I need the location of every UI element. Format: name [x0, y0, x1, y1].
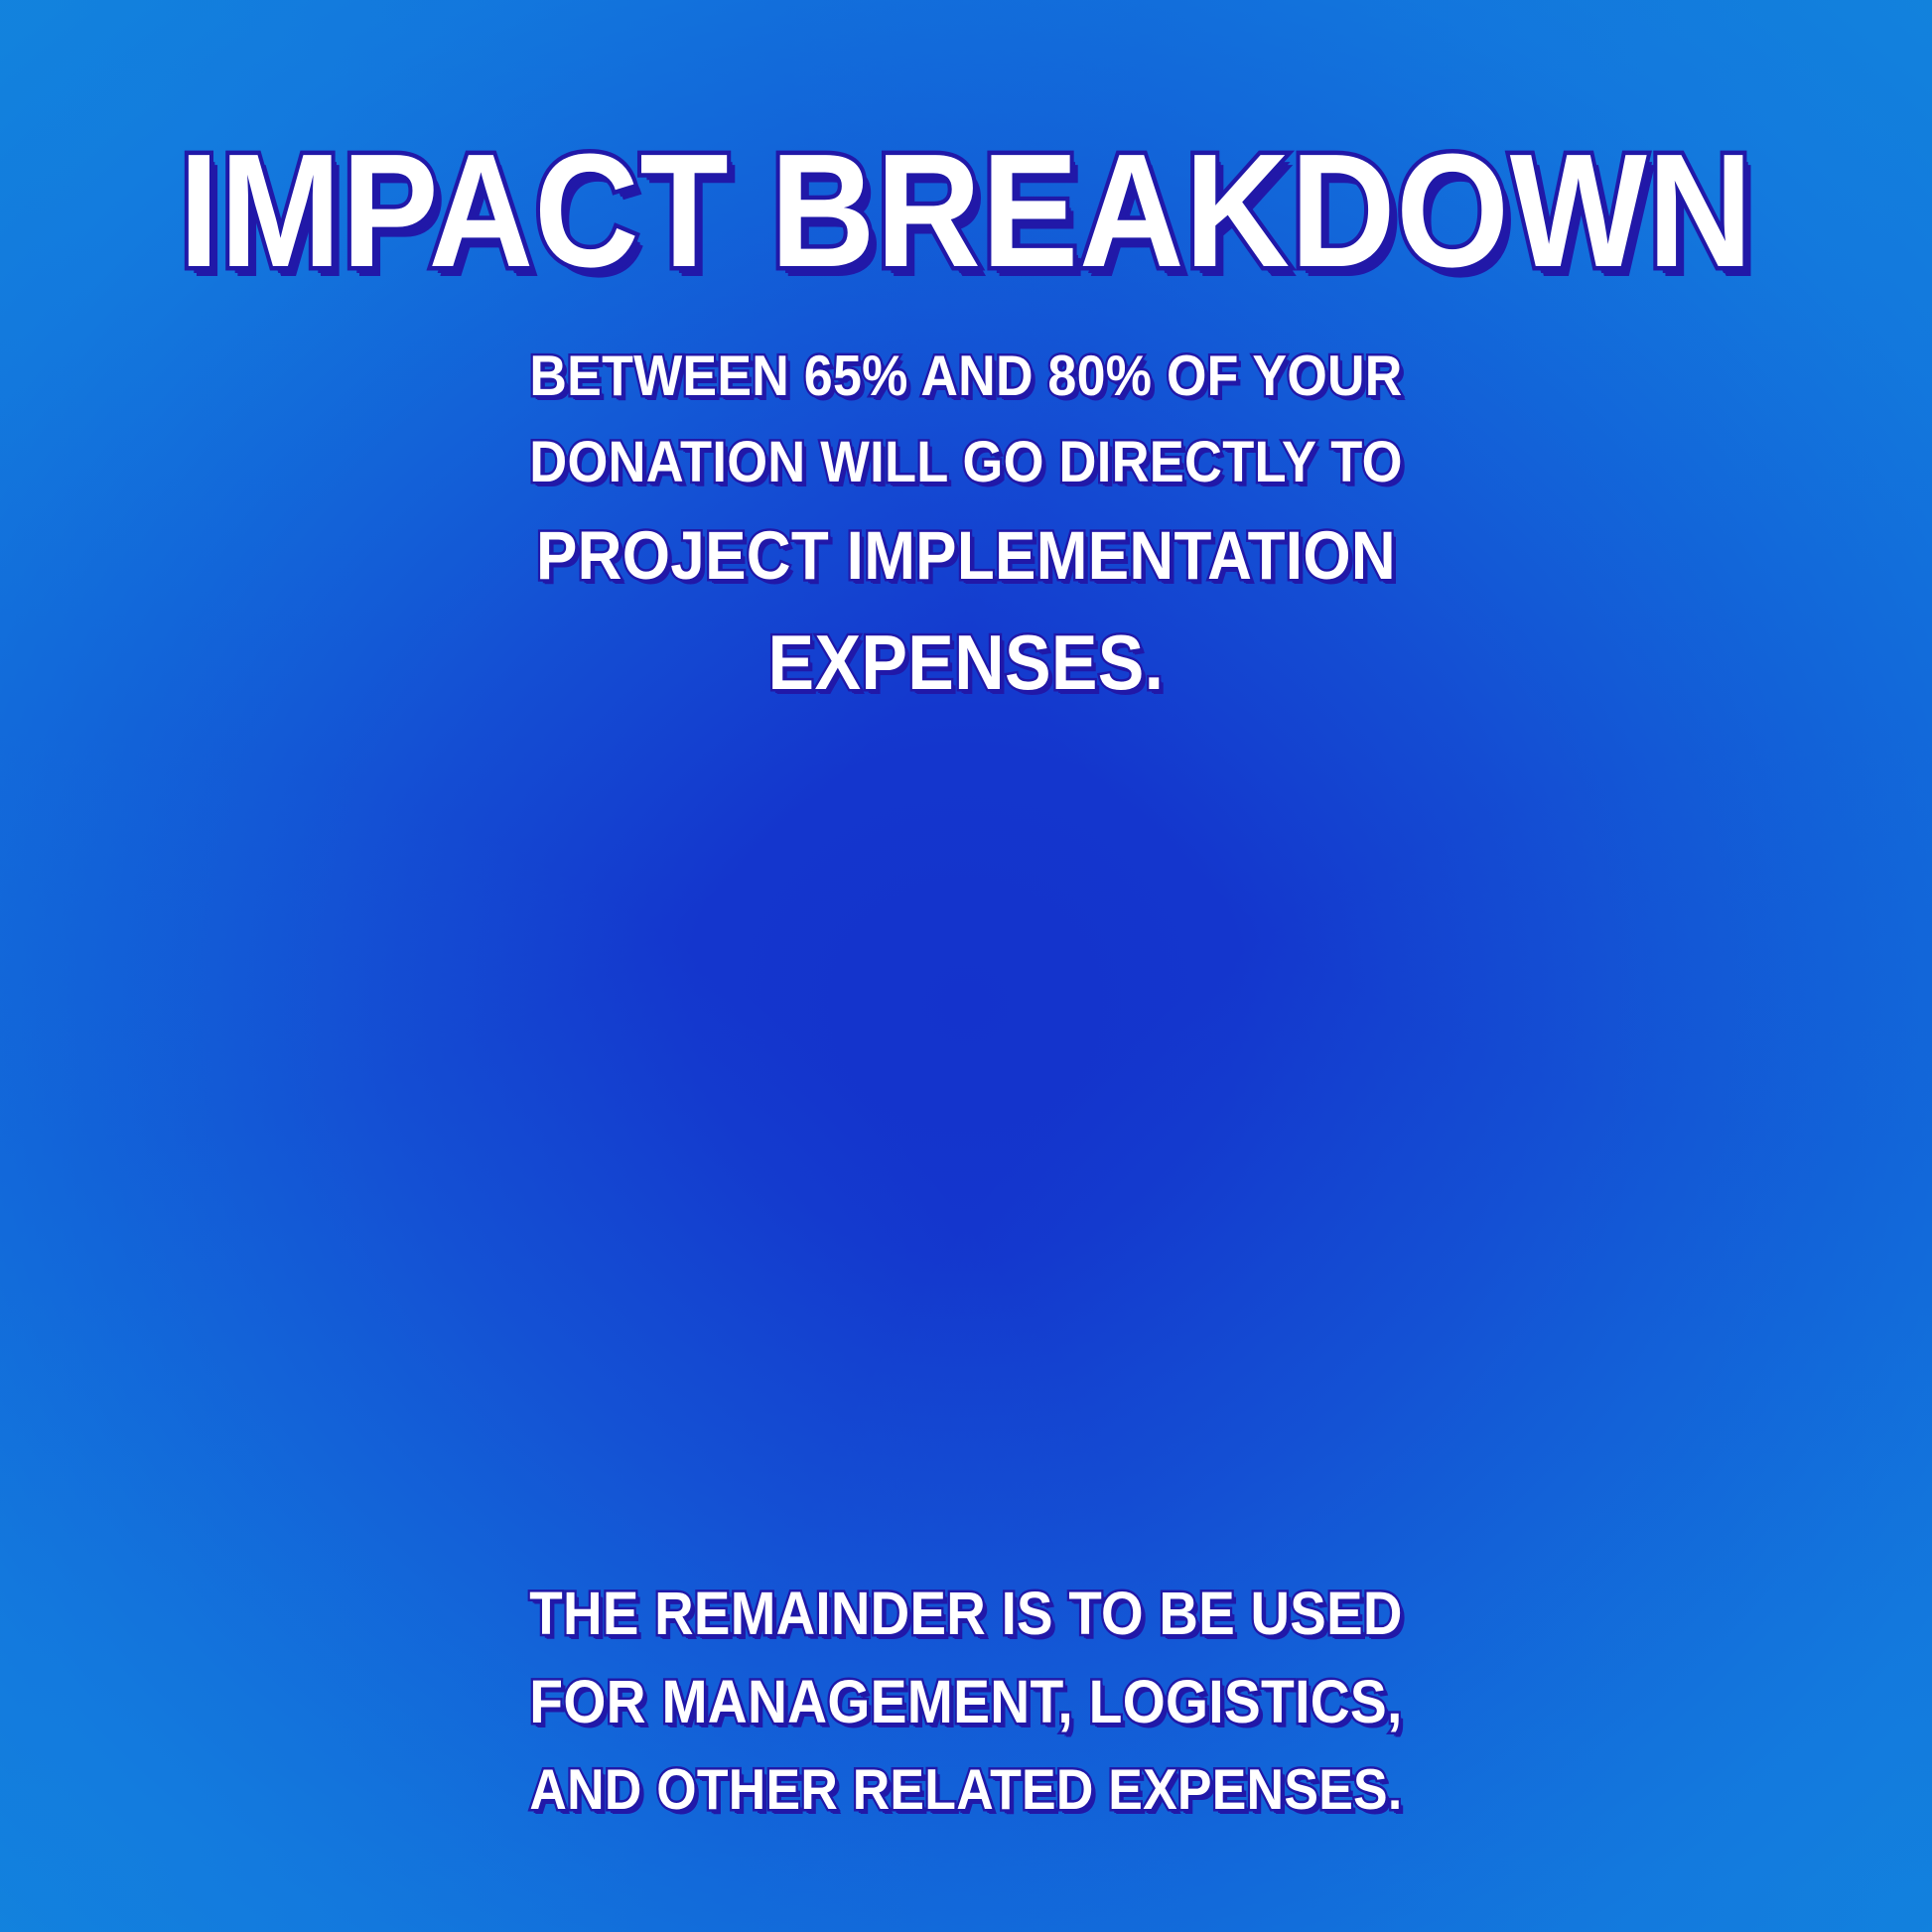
poster-canvas: IMPACT BREAKDOWN BETWEEN 65% AND 80% OF …	[0, 0, 1932, 1932]
page-title: IMPACT BREAKDOWN	[179, 127, 1753, 295]
paragraph-bottom-line-3: AND OTHER RELATED EXPENSES.	[179, 1748, 1753, 1833]
paragraph-bottom-line-2: FOR MANAGEMENT, LOGISTICS,	[179, 1658, 1753, 1748]
paragraph-top-line-2: DONATION WILL GO DIRECTLY TO	[179, 420, 1753, 505]
paragraph-bottom-line-1: THE REMAINDER IS TO BE USED	[179, 1569, 1753, 1658]
impact-paragraph-bottom: THE REMAINDER IS TO BE USED FOR MANAGEME…	[91, 1569, 1841, 1833]
paragraph-top-line-4: EXPENSES.	[179, 607, 1753, 721]
poster-content: IMPACT BREAKDOWN BETWEEN 65% AND 80% OF …	[0, 0, 1932, 1932]
paragraph-top-line-1: BETWEEN 65% AND 80% OF YOUR	[179, 335, 1753, 419]
paragraph-spacer	[91, 721, 1841, 1569]
impact-paragraph-top: BETWEEN 65% AND 80% OF YOUR DONATION WIL…	[91, 335, 1841, 721]
paragraph-top-line-3: PROJECT IMPLEMENTATION	[179, 505, 1753, 607]
